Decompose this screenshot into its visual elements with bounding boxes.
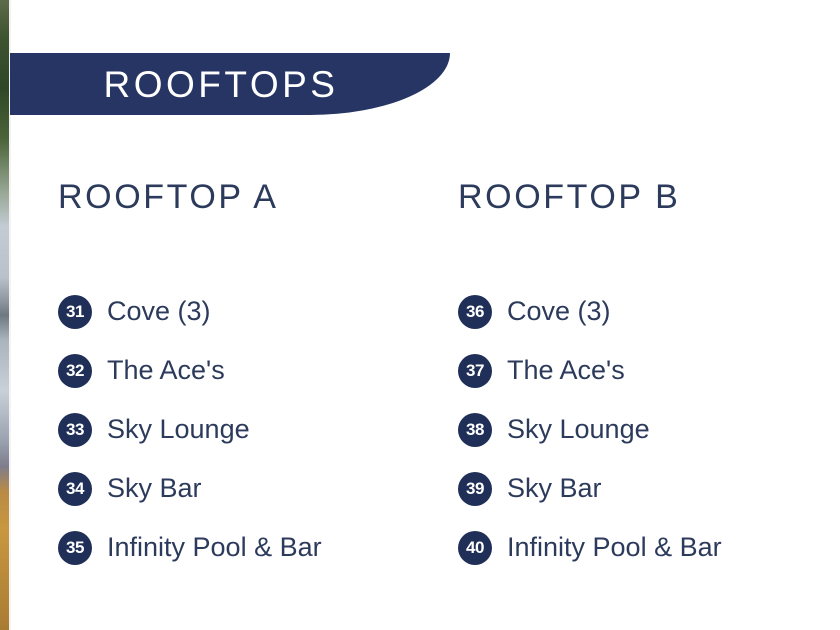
item-label: Sky Lounge xyxy=(507,416,650,443)
item-number-badge: 32 xyxy=(58,354,92,388)
list-item[interactable]: 40 Infinity Pool & Bar xyxy=(458,518,800,577)
item-label: Infinity Pool & Bar xyxy=(107,534,322,561)
list-item[interactable]: 31 Cove (3) xyxy=(58,282,400,341)
item-number-badge: 37 xyxy=(458,354,492,388)
item-number-badge: 34 xyxy=(58,472,92,506)
list-item[interactable]: 32 The Ace's xyxy=(58,341,400,400)
item-list-a: 31 Cove (3) 32 The Ace's 33 Sky Lounge 3… xyxy=(58,282,400,577)
column-rooftop-b: ROOFTOP B 36 Cove (3) 37 The Ace's 38 Sk… xyxy=(400,180,800,577)
page-title: ROOFTOPS xyxy=(104,66,339,103)
item-label: Sky Bar xyxy=(507,475,602,502)
list-item[interactable]: 38 Sky Lounge xyxy=(458,400,800,459)
item-label: Cove (3) xyxy=(507,298,611,325)
item-number-badge: 40 xyxy=(458,531,492,565)
list-item[interactable]: 37 The Ace's xyxy=(458,341,800,400)
item-label: Sky Bar xyxy=(107,475,202,502)
list-item[interactable]: 36 Cove (3) xyxy=(458,282,800,341)
item-label: The Ace's xyxy=(507,357,625,384)
item-label: The Ace's xyxy=(107,357,225,384)
item-number-badge: 38 xyxy=(458,413,492,447)
item-label: Sky Lounge xyxy=(107,416,250,443)
item-list-b: 36 Cove (3) 37 The Ace's 38 Sky Lounge 3… xyxy=(458,282,800,577)
list-item[interactable]: 34 Sky Bar xyxy=(58,459,400,518)
column-heading-b: ROOFTOP B xyxy=(458,180,800,214)
item-number-badge: 33 xyxy=(58,413,92,447)
item-label: Cove (3) xyxy=(107,298,211,325)
item-label: Infinity Pool & Bar xyxy=(507,534,722,561)
column-rooftop-a: ROOFTOP A 31 Cove (3) 32 The Ace's 33 Sk… xyxy=(0,180,400,577)
item-number-badge: 35 xyxy=(58,531,92,565)
item-number-badge: 39 xyxy=(458,472,492,506)
item-number-badge: 36 xyxy=(458,295,492,329)
list-item[interactable]: 39 Sky Bar xyxy=(458,459,800,518)
column-heading-a: ROOFTOP A xyxy=(58,180,400,214)
rooftop-columns: ROOFTOP A 31 Cove (3) 32 The Ace's 33 Sk… xyxy=(0,180,840,577)
list-item[interactable]: 33 Sky Lounge xyxy=(58,400,400,459)
section-banner: ROOFTOPS xyxy=(10,53,450,115)
item-number-badge: 31 xyxy=(58,295,92,329)
list-item[interactable]: 35 Infinity Pool & Bar xyxy=(58,518,400,577)
